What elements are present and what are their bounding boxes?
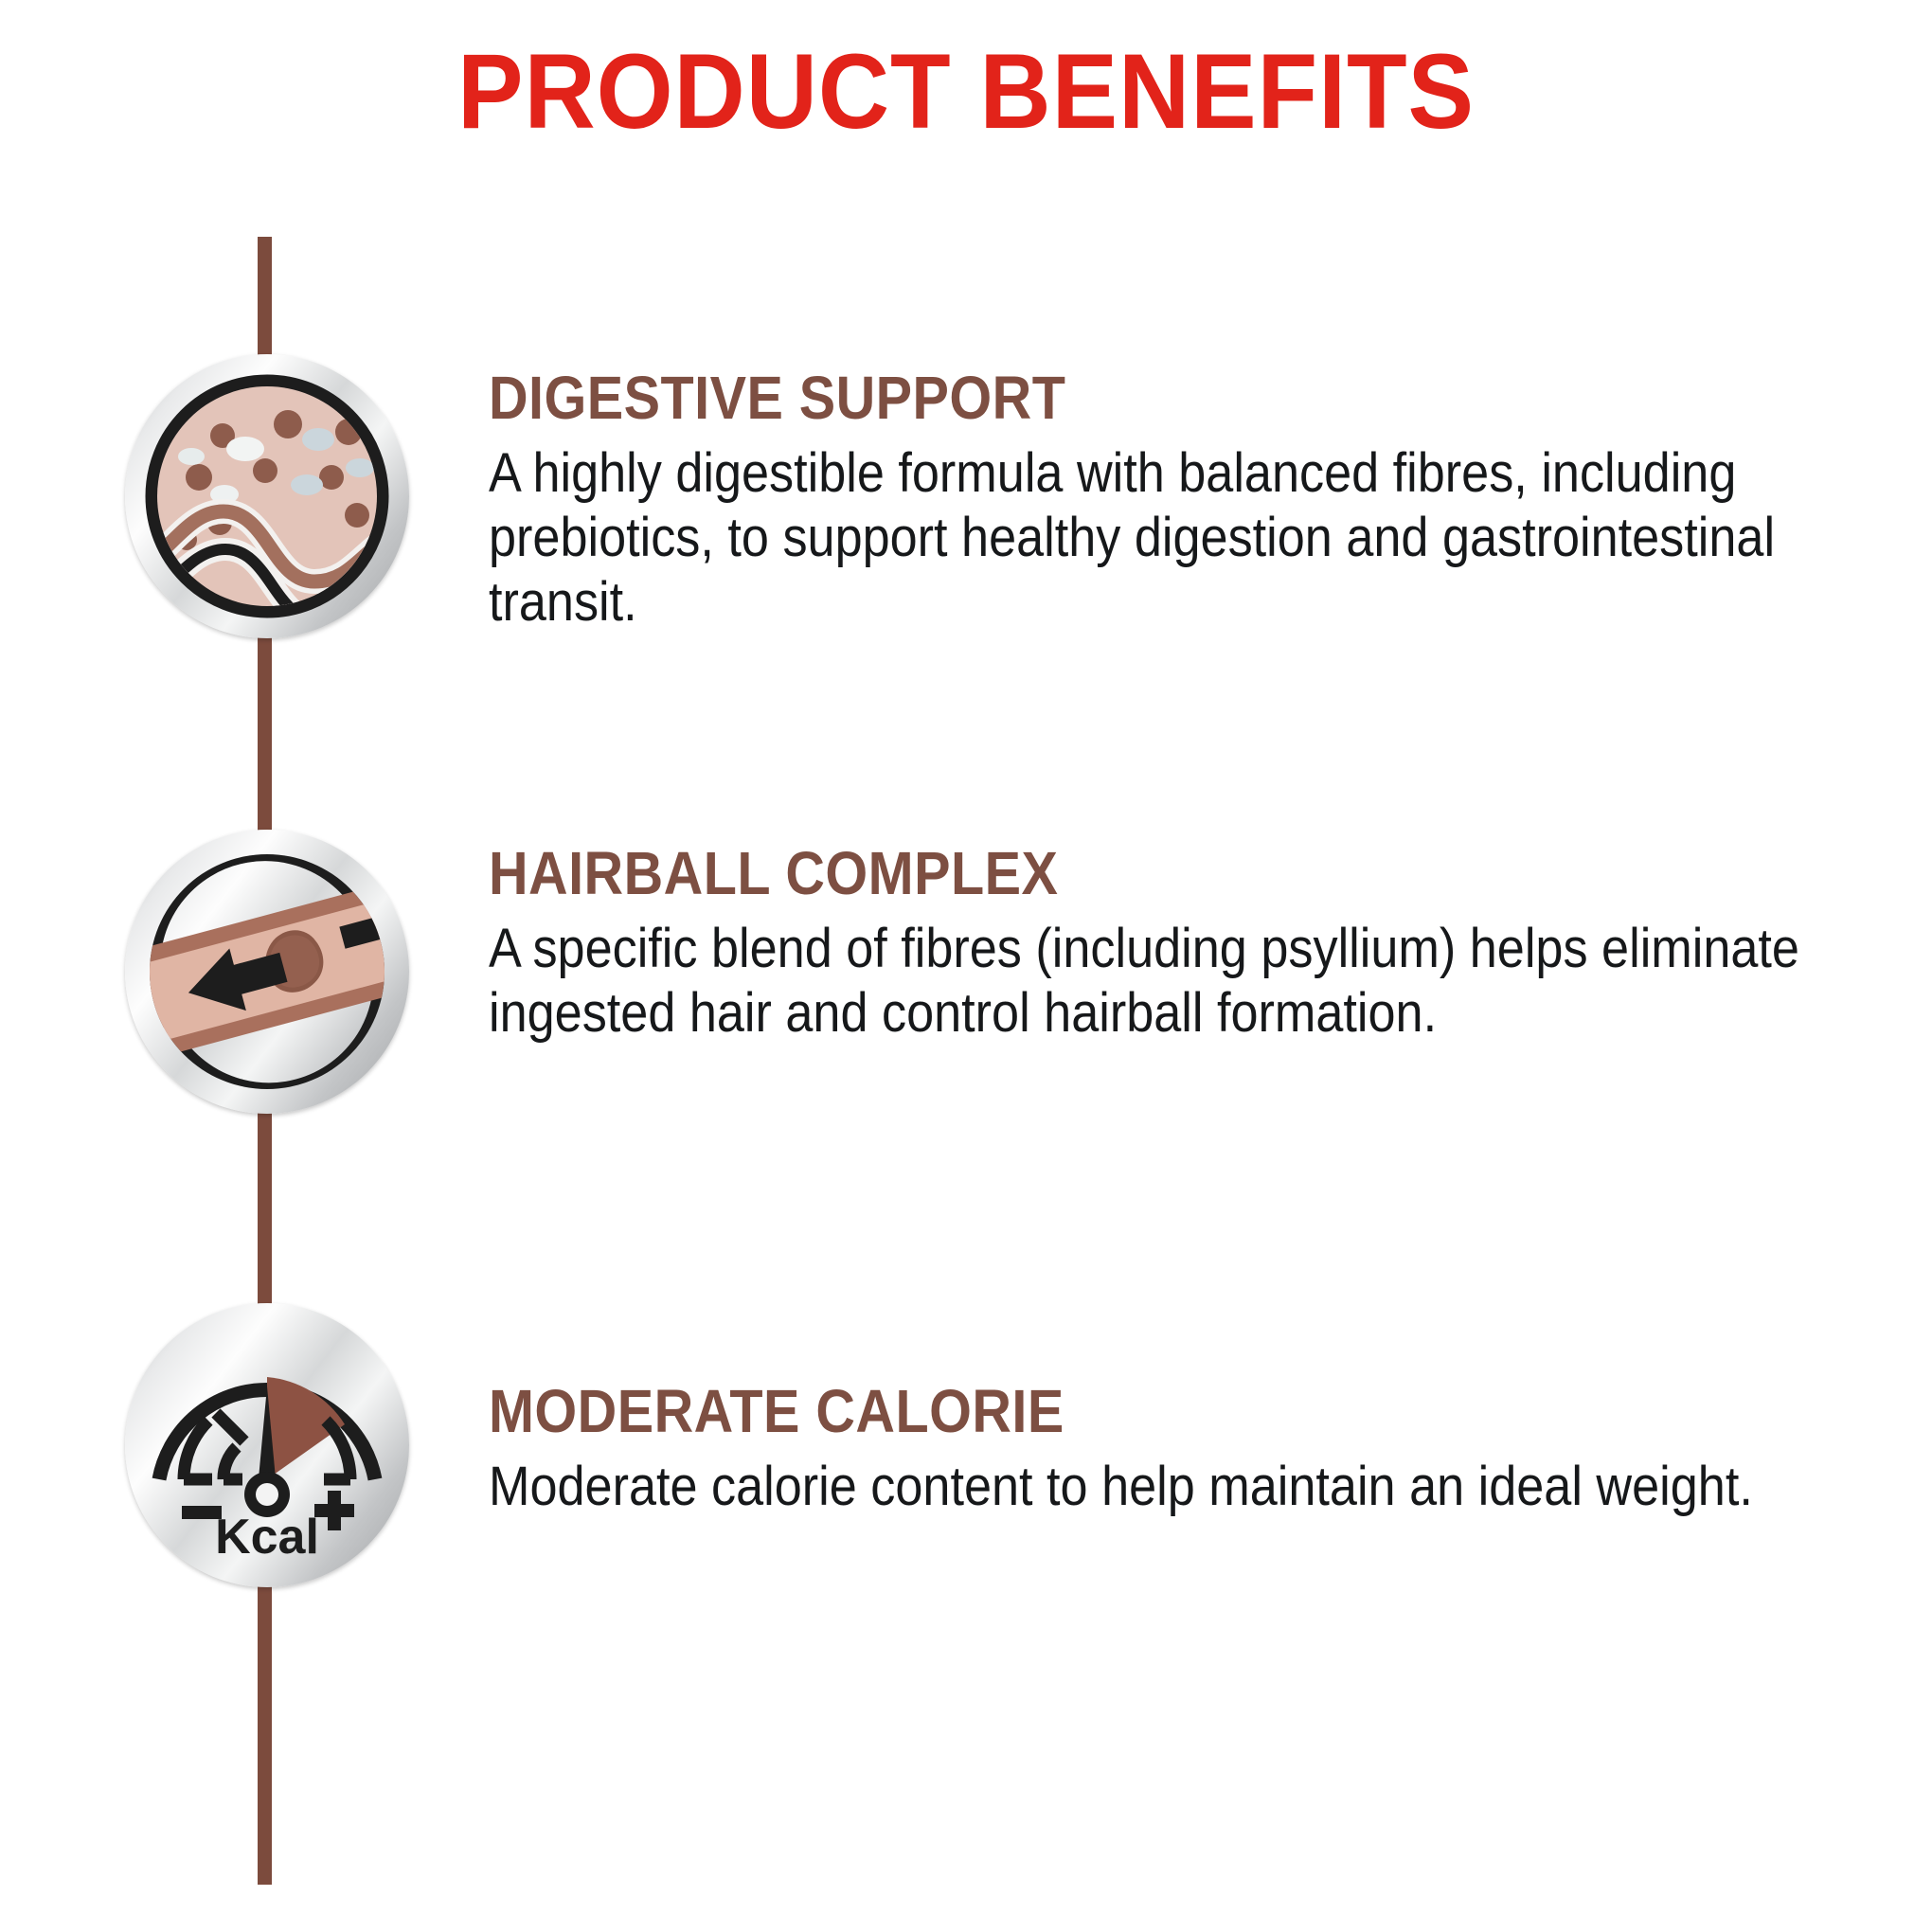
benefit-copy: HAIRBALL COMPLEX A specific blend of fib… — [489, 843, 1824, 1046]
page-title: PRODUCT BENEFITS — [67, 36, 1864, 148]
benefit-body: A highly digestible formula with balance… — [489, 441, 1818, 635]
calorie-gauge-icon: Kcal — [125, 1303, 409, 1587]
benefit-body: Moderate calorie content to help maintai… — [489, 1455, 1818, 1519]
benefit-copy: DIGESTIVE SUPPORT A highly digestible fo… — [489, 367, 1824, 635]
benefit-copy: MODERATE CALORIE Moderate calorie conten… — [489, 1381, 1824, 1519]
benefit-body: A specific blend of fibres (including ps… — [489, 917, 1818, 1046]
gauge-kcal-label: Kcal — [215, 1510, 319, 1565]
benefit-heading: MODERATE CALORIE — [489, 1381, 1690, 1441]
benefit-heading: DIGESTIVE SUPPORT — [489, 367, 1690, 428]
benefit-heading: HAIRBALL COMPLEX — [489, 843, 1690, 903]
product-benefits-infographic: PRODUCT BENEFITS — [0, 0, 1932, 1932]
hairball-transit-arrow-icon — [125, 830, 409, 1114]
intestine-cross-section-icon — [125, 354, 409, 638]
